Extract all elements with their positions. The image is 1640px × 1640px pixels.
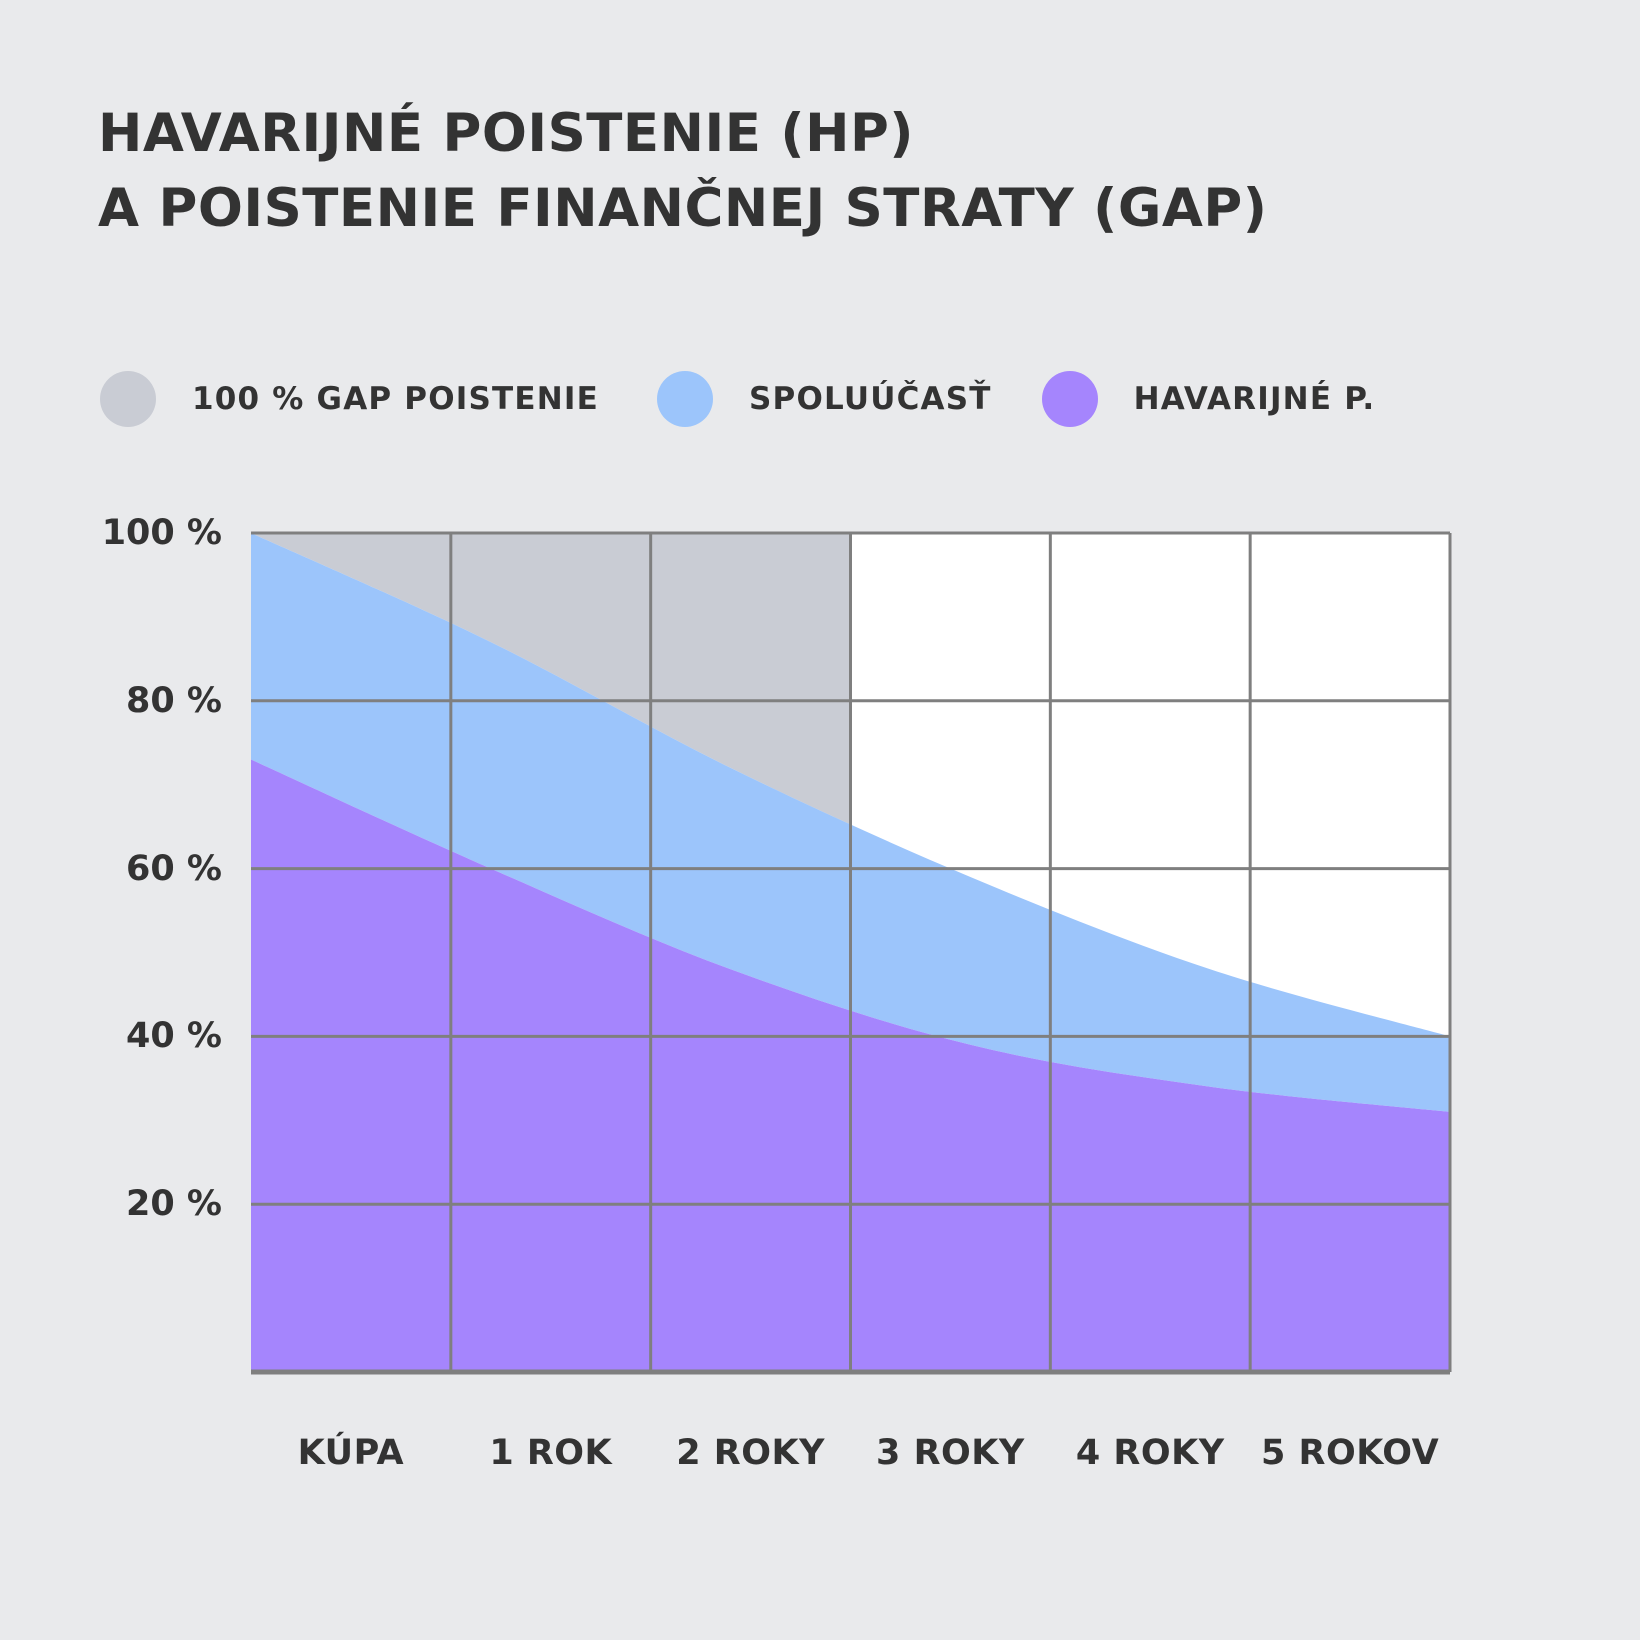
x-axis-tick-label: KÚPA	[298, 1433, 404, 1473]
y-axis-tick-label: 40 %	[126, 1016, 222, 1056]
x-axis-tick-label: 3 ROKY	[876, 1433, 1025, 1473]
y-axis-tick-label: 80 %	[126, 681, 222, 721]
x-axis-tick-label: 1 ROK	[489, 1433, 612, 1473]
y-axis-tick-label: 60 %	[126, 849, 222, 889]
y-axis-tick-label: 20 %	[126, 1184, 222, 1224]
y-axis-tick-label: 100 %	[102, 513, 222, 553]
x-axis-tick-label: 2 ROKY	[676, 1433, 825, 1473]
x-axis-tick-label: 5 ROKOV	[1261, 1433, 1439, 1473]
area-chart: 100 %80 %60 %40 %20 % KÚPA1 ROK2 ROKY3 R…	[0, 0, 1640, 1640]
infographic-root: HAVARIJNÉ POISTENIE (HP) A POISTENIE FIN…	[0, 0, 1640, 1640]
chart-plot-svg	[0, 0, 1640, 1640]
x-axis-tick-label: 4 ROKY	[1076, 1433, 1225, 1473]
